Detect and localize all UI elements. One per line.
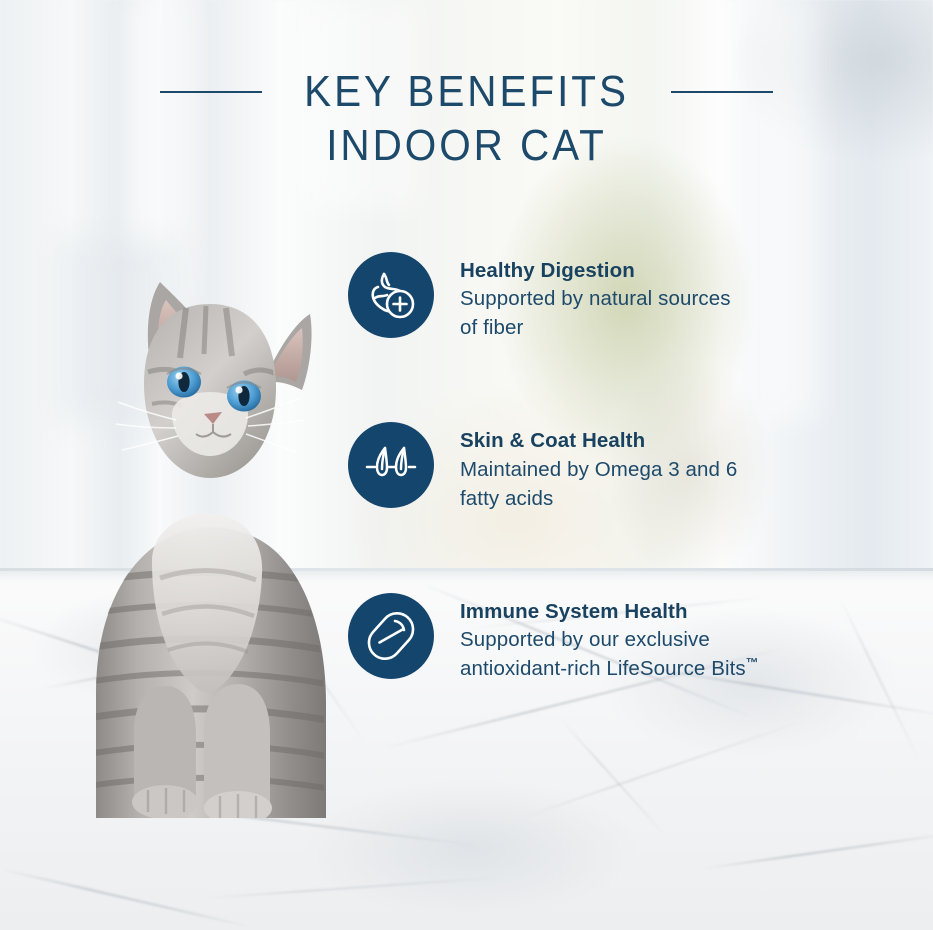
title-line-1: KEY BENEFITS <box>304 66 629 118</box>
benefit-description-line-2: of fiber <box>460 316 523 339</box>
title-rule-right <box>671 91 773 93</box>
benefit-text: Skin & Coat Health Maintained by Omega 3… <box>460 422 737 512</box>
benefit-description: Supported by natural sources of fiber <box>460 284 731 342</box>
benefit-title: Healthy Digestion <box>460 258 731 284</box>
trademark-symbol: ™ <box>746 655 759 670</box>
page-title: KEY BENEFITS INDOOR CAT <box>0 66 933 172</box>
benefit-description-line-1: Supported by natural sources <box>460 287 731 310</box>
benefit-text: Immune System Health Supported by our ex… <box>460 593 759 683</box>
benefit-description-line-2: fatty acids <box>460 487 553 510</box>
benefit-item: Healthy Digestion Supported by natural s… <box>348 252 908 342</box>
benefit-item: Immune System Health Supported by our ex… <box>348 593 908 683</box>
benefit-title: Skin & Coat Health <box>460 428 737 454</box>
benefit-description-line-1: Maintained by Omega 3 and 6 <box>460 458 737 481</box>
benefit-description-line-1: Supported by our exclusive <box>460 628 710 651</box>
capsule-pill-icon <box>348 593 434 679</box>
benefit-description-line-2: antioxidant-rich LifeSource Bits <box>460 657 746 680</box>
key-benefits-infographic: KEY BENEFITS INDOOR CAT <box>0 0 933 930</box>
title-line-2: INDOOR CAT <box>37 120 895 172</box>
grey-tabby-cat-photo <box>48 262 368 818</box>
benefit-item: Skin & Coat Health Maintained by Omega 3… <box>348 422 908 512</box>
benefit-description: Supported by our exclusive antioxidant-r… <box>460 625 759 683</box>
title-row: KEY BENEFITS <box>0 66 933 118</box>
stomach-plus-icon <box>348 252 434 338</box>
benefits-list: Healthy Digestion Supported by natural s… <box>348 252 908 683</box>
benefit-title: Immune System Health <box>460 599 759 625</box>
benefit-description: Maintained by Omega 3 and 6 fatty acids <box>460 455 737 513</box>
benefit-text: Healthy Digestion Supported by natural s… <box>460 252 731 342</box>
hair-follicle-icon <box>348 422 434 508</box>
title-rule-left <box>160 91 262 93</box>
marble-vein <box>700 832 933 870</box>
